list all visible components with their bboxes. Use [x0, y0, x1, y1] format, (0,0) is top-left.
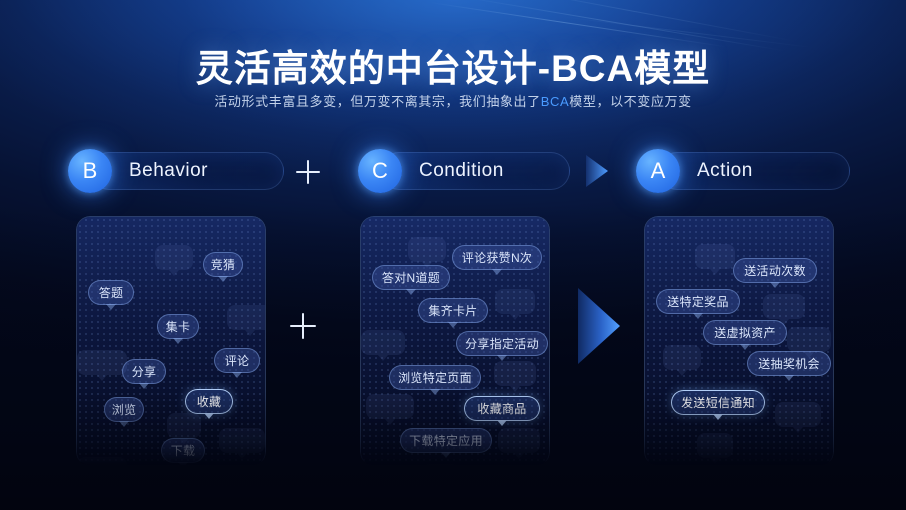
tag-bubble-tail: [422, 262, 432, 268]
tag-bubble[interactable]: 分享指定活动: [456, 331, 548, 356]
panel-action: 送活动次数送特定奖品送虚拟资产送抽奖机会发送短信通知: [644, 216, 834, 466]
tag-bubble-placeholder: [498, 428, 540, 453]
tag-bubble[interactable]: 竞猜: [203, 252, 243, 277]
tag-bubble-tail: [430, 389, 440, 395]
tag-label: 答题: [99, 284, 124, 301]
tag-bubble[interactable]: 集卡: [157, 314, 199, 339]
tag-label: 分享: [132, 363, 157, 380]
badge-a: A: [636, 149, 680, 193]
tag-bubble-tail: [406, 289, 416, 295]
tag-bubble[interactable]: 分享: [122, 359, 166, 384]
tag-label: 集齐卡片: [428, 302, 477, 319]
tag-bubble-tail: [514, 453, 524, 459]
column-header-behavior[interactable]: B Behavior: [68, 147, 284, 195]
tag-bubble-tail: [169, 270, 179, 276]
column-header-action[interactable]: A Action: [636, 147, 850, 195]
page-subtitle: 活动形式丰富且多变，但万变不离其宗，我们抽象出了BCA模型，以不变应万变: [0, 91, 906, 110]
tag-bubble[interactable]: 浏览: [104, 397, 144, 422]
tag-bubble-placeholder: [695, 244, 735, 269]
tag-bubble-tail: [710, 269, 720, 275]
tag-bubble[interactable]: 评论: [214, 348, 260, 373]
tag-label: 下载特定应用: [409, 432, 483, 449]
tag-bubble-placeholder: [663, 345, 701, 370]
tag-bubble-tail: [441, 452, 451, 458]
tag-bubble-tail: [770, 282, 780, 288]
tag-label: 竞猜: [211, 256, 236, 273]
tag-bubble-placeholder: [77, 350, 127, 375]
tag-bubble[interactable]: 收藏商品: [464, 396, 540, 421]
tag-bubble-placeholder: [763, 294, 805, 319]
tag-bubble-tail: [740, 344, 750, 350]
tag-bubble-tail: [492, 269, 502, 275]
tag-bubble[interactable]: 答题: [88, 280, 134, 305]
tag-bubble-tail: [693, 313, 703, 319]
tag-bubble-tail: [448, 322, 458, 328]
tag-bubble-placeholder: [155, 245, 193, 270]
tag-bubble-tail: [173, 338, 183, 344]
tag-label: 收藏商品: [477, 400, 526, 417]
tag-label: 分享指定活动: [465, 335, 539, 352]
tag-bubble[interactable]: 浏览特定页面: [389, 365, 481, 390]
tag-label: 浏览特定页面: [398, 369, 472, 386]
tag-bubble-tail: [179, 438, 189, 444]
tag-bubble-tail: [510, 386, 520, 392]
tag-bubble-tail: [710, 458, 720, 464]
tag-label: 送虚拟资产: [714, 324, 776, 341]
tag-bubble-placeholder: [361, 330, 405, 355]
tag-bubble-placeholder: [787, 327, 831, 352]
tag-label: 发送短信通知: [681, 394, 755, 411]
plus-icon: [290, 313, 316, 339]
column-label-behavior: Behavior: [90, 152, 284, 190]
tag-bubble-tail: [178, 462, 188, 466]
tag-bubble-placeholder: [77, 457, 127, 466]
tag-bubble-placeholder: [167, 413, 201, 438]
column-label-action: Action: [658, 152, 850, 190]
tag-bubble[interactable]: 集齐卡片: [418, 298, 488, 323]
tag-bubble-tail: [804, 352, 814, 358]
tag-bubble-placeholder: [408, 237, 446, 262]
tag-bubble-tail: [497, 420, 507, 426]
tag-bubble-tail: [378, 355, 388, 361]
tag-bubble-tail: [232, 372, 242, 378]
column-header-condition[interactable]: C Condition: [358, 147, 570, 195]
tag-bubble-tail: [218, 276, 228, 282]
tag-bubble-tail: [784, 375, 794, 381]
tag-bubble-placeholder: [495, 289, 535, 314]
tag-bubble-tail: [97, 375, 107, 381]
panel-condition: 评论获赞N次答对N道题集齐卡片分享指定活动浏览特定页面收藏商品下载特定应用: [360, 216, 550, 466]
subtitle-highlight: BCA: [541, 94, 570, 109]
subtitle-text-post: 模型，以不变应万变: [569, 94, 691, 109]
tag-bubble-tail: [106, 304, 116, 310]
tag-bubble-placeholder: [775, 402, 821, 427]
tag-bubble-tail: [139, 383, 149, 389]
panel-behavior: 竞猜答题集卡评论分享收藏浏览下载: [76, 216, 266, 466]
tag-bubble-tail: [779, 319, 789, 325]
tag-bubble[interactable]: 下载特定应用: [400, 428, 492, 453]
tag-bubble-tail: [204, 413, 214, 419]
tag-bubble[interactable]: 送活动次数: [733, 258, 817, 283]
tag-bubble-tail: [237, 453, 247, 459]
tag-bubble-tail: [793, 427, 803, 433]
tag-bubble-placeholder: [227, 305, 266, 330]
plus-icon: [296, 160, 320, 184]
tag-label: 浏览: [112, 401, 137, 418]
badge-c: C: [358, 149, 402, 193]
tag-label: 答对N道题: [382, 269, 440, 286]
tag-label: 收藏: [197, 393, 222, 410]
tag-bubble-placeholder: [219, 428, 265, 453]
tag-bubble-tail: [119, 421, 129, 427]
tag-bubble[interactable]: 评论获赞N次: [452, 245, 542, 270]
tag-bubble-placeholder: [494, 361, 536, 386]
tag-bubble[interactable]: 收藏: [185, 389, 233, 414]
tag-bubble[interactable]: 送特定奖品: [656, 289, 740, 314]
page-title: 灵活高效的中台设计-BCA模型: [0, 38, 906, 92]
tag-bubble-tail: [510, 314, 520, 320]
tag-label: 评论: [225, 352, 250, 369]
tag-label: 下载: [171, 442, 196, 459]
tag-label: 送活动次数: [744, 262, 806, 279]
column-label-condition: Condition: [380, 152, 570, 190]
tag-bubble-tail: [245, 330, 255, 336]
tag-label: 送特定奖品: [667, 293, 729, 310]
tag-bubble-placeholder: [366, 394, 414, 419]
arrow-right-icon: [578, 288, 620, 364]
tag-bubble[interactable]: 答对N道题: [372, 265, 450, 290]
badge-b: B: [68, 149, 112, 193]
tag-bubble[interactable]: 送抽奖机会: [747, 351, 831, 376]
tag-bubble[interactable]: 发送短信通知: [671, 390, 765, 415]
tag-bubble-placeholder: [421, 464, 461, 466]
tag-bubble-tail: [385, 419, 395, 425]
tag-label: 集卡: [166, 318, 191, 335]
arrow-right-icon: [586, 155, 608, 187]
tag-bubble-placeholder: [697, 433, 733, 458]
tag-label: 评论获赞N次: [462, 249, 532, 266]
tag-bubble-tail: [713, 414, 723, 420]
tag-bubble-tail: [677, 370, 687, 376]
tag-bubble[interactable]: 送虚拟资产: [703, 320, 787, 345]
subtitle-text-pre: 活动形式丰富且多变，但万变不离其宗，我们抽象出了: [214, 94, 540, 109]
